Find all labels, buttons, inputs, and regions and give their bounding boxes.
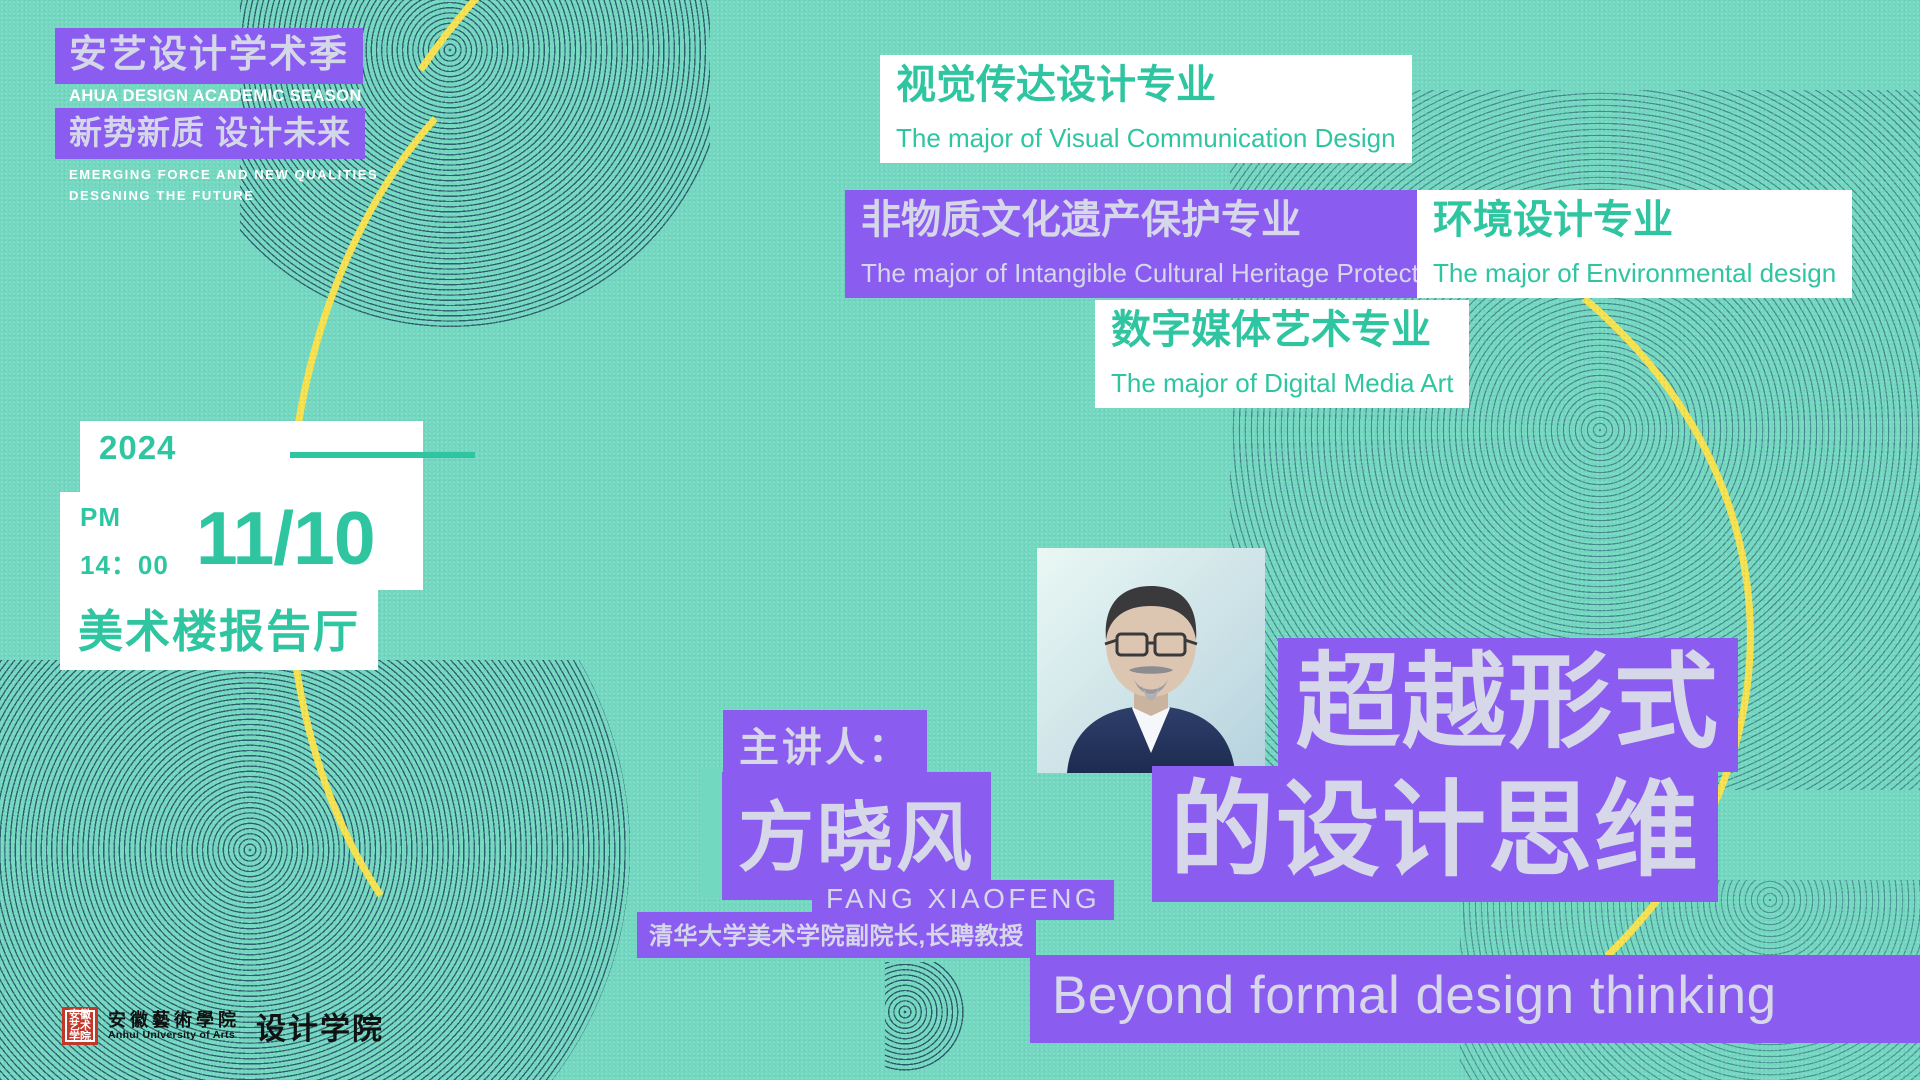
portrait-illustration (1037, 548, 1265, 773)
seal-label: 安徽艺术学院 (65, 1010, 95, 1042)
major-en-label: The major of Environmental design (1417, 253, 1852, 298)
university-name-en: Anhui University of Arts (108, 1030, 240, 1041)
university-name-cn: 安徽藝術學院 (108, 1011, 240, 1030)
season-title-en: AHUA DESIGN ACADEMIC SEASON (69, 87, 378, 106)
major-cn-label: 非物质文化遗产保护专业 (845, 190, 1470, 253)
major-intangible-heritage: 非物质文化遗产保护专业 The major of Intangible Cult… (845, 190, 1470, 298)
season-subtitle-en-line1: EMERGING FORCE AND NEW QUALITIES (69, 164, 378, 185)
date-rule (290, 452, 475, 458)
poster-canvas: 安艺设计学术季 AHUA DESIGN ACADEMIC SEASON 新势新质… (0, 0, 1920, 1080)
university-seal-icon: 安徽艺术学院 (62, 1007, 98, 1045)
speaker-portrait (1037, 548, 1265, 773)
lecture-title-line1: 超越形式 (1278, 638, 1738, 772)
lecture-title-en: Beyond formal design thinking (1030, 955, 1920, 1043)
footer-logo: 安徽艺术学院 安徽藝術學院 Anhui University of Arts 设… (62, 1004, 384, 1048)
university-name: 安徽藝術學院 Anhui University of Arts (108, 1011, 240, 1041)
major-en-label: The major of Digital Media Art (1095, 363, 1469, 408)
event-time: 14：00 (80, 545, 169, 582)
major-cn-label: 视觉传达设计专业 (880, 55, 1412, 118)
season-title-cn: 安艺设计学术季 (55, 28, 363, 84)
season-header: 安艺设计学术季 AHUA DESIGN ACADEMIC SEASON 新势新质… (55, 28, 378, 206)
major-digital-media-art: 数字媒体艺术专业 The major of Digital Media Art (1095, 300, 1469, 408)
event-day: 11/10 (196, 492, 375, 584)
major-visual-communication: 视觉传达设计专业 The major of Visual Communicati… (880, 55, 1412, 163)
major-cn-label: 环境设计专业 (1417, 190, 1852, 253)
speaker-credential: 清华大学美术学院副院长,长聘教授 (637, 912, 1036, 958)
school-name: 设计学院 (256, 1004, 384, 1048)
major-en-label: The major of Intangible Cultural Heritag… (845, 253, 1470, 298)
season-subtitle-cn: 新势新质 设计未来 (55, 108, 365, 159)
season-subtitle-en-line2: DESGNING THE FUTURE (69, 185, 378, 206)
lecture-title-line2: 的设计思维 (1152, 766, 1718, 902)
event-meridiem: PM (80, 502, 121, 533)
event-year: 2024 (99, 429, 176, 467)
major-environmental-design: 环境设计专业 The major of Environmental design (1417, 190, 1852, 298)
event-venue: 美术楼报告厅 (60, 590, 378, 670)
major-en-label: The major of Visual Communication Design (880, 118, 1412, 163)
concentric-disc-small (885, 962, 965, 1080)
major-cn-label: 数字媒体艺术专业 (1095, 300, 1469, 363)
